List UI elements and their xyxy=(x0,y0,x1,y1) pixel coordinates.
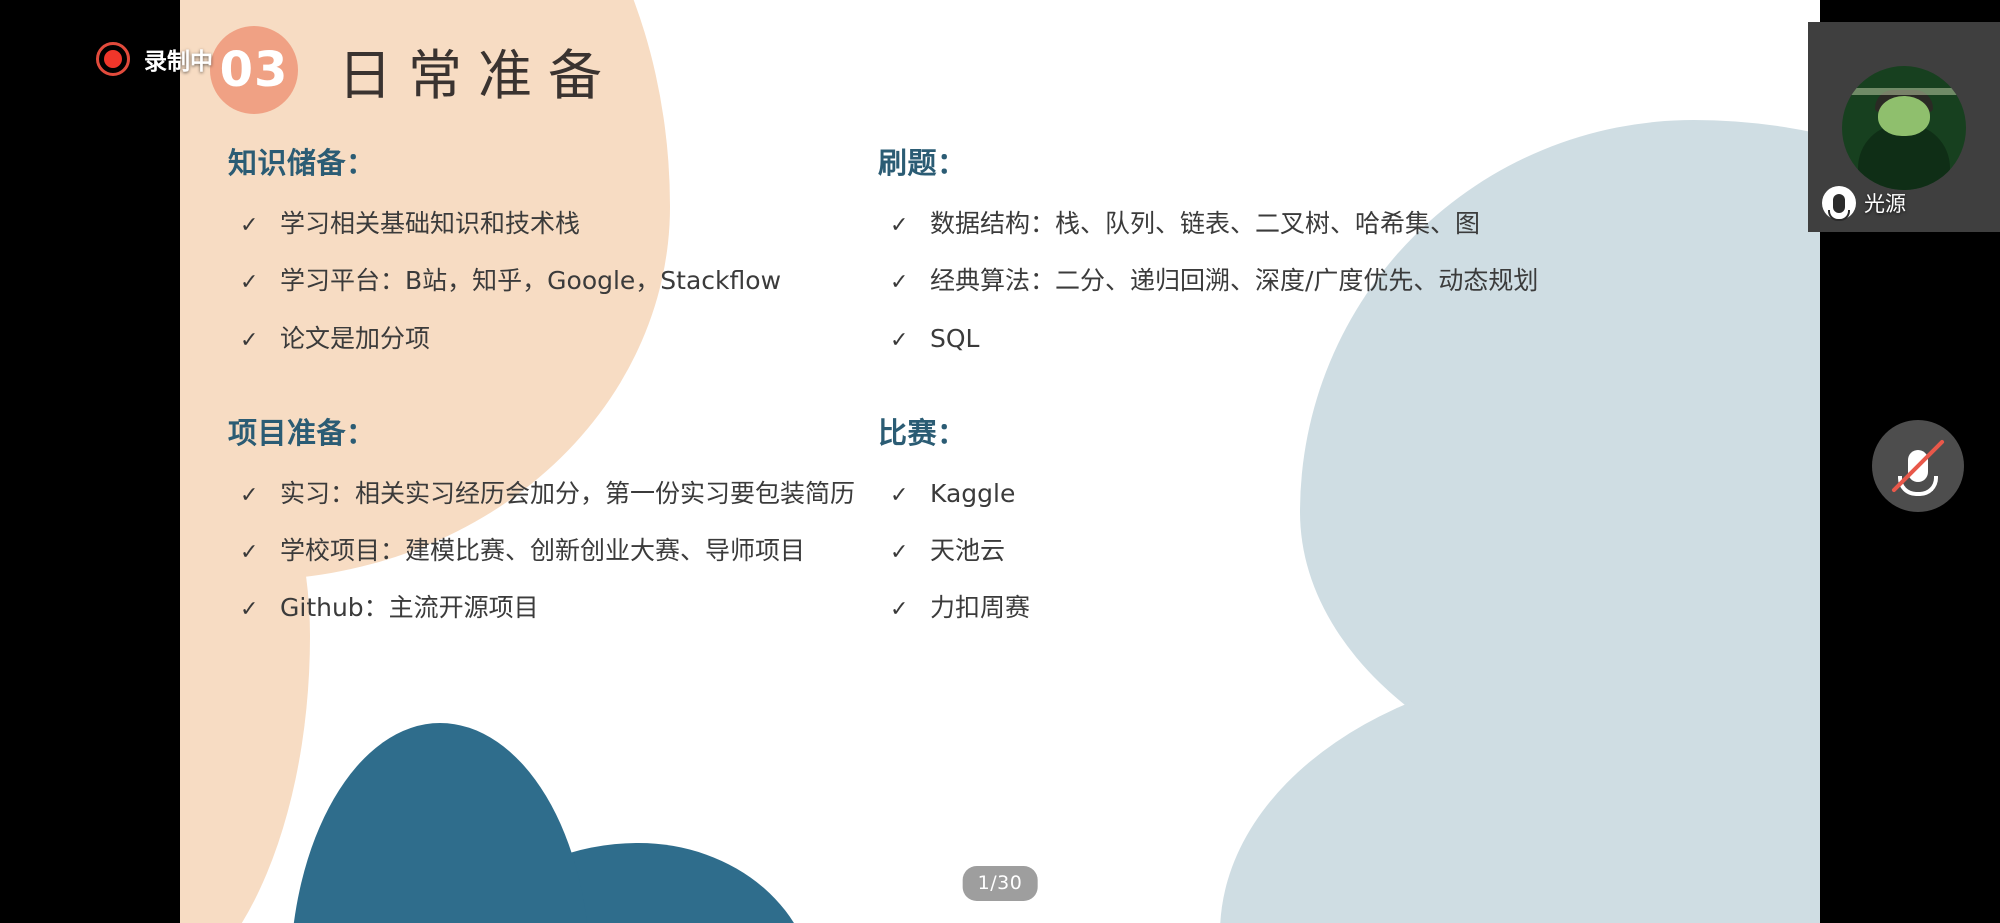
list-item: ✓ Kaggle xyxy=(878,478,1760,509)
list-item: ✓ 数据结构：栈、队列、链表、二叉树、哈希集、图 xyxy=(878,208,1760,239)
list-item-label: 实习：相关实习经历会加分，第一份实习要包装简历 xyxy=(280,478,855,509)
list-item: ✓ 力扣周赛 xyxy=(878,592,1760,623)
list-item: ✓ 论文是加分项 xyxy=(228,323,820,354)
list-item: ✓ 实习：相关实习经历会加分，第一份实习要包装简历 xyxy=(228,478,820,509)
participant-name: 光源 xyxy=(1864,188,1906,218)
list-item: ✓ 天池云 xyxy=(878,535,1760,566)
list-item: ✓ Github：主流开源项目 xyxy=(228,592,820,623)
decorative-blob-teal-bottom xyxy=(290,723,590,923)
check-icon: ✓ xyxy=(890,541,910,563)
record-dot-icon xyxy=(96,42,130,76)
mute-toggle-button[interactable] xyxy=(1872,420,1964,512)
presentation-slide: 03 日常准备 知识储备： ✓ 学习相关基础知识和技术栈 ✓ 学习平台：B站，知… xyxy=(180,0,1820,923)
decorative-blob-blue-bottom xyxy=(1220,663,1820,923)
list-item-label: Kaggle xyxy=(930,478,1015,509)
check-icon: ✓ xyxy=(890,214,910,236)
check-icon: ✓ xyxy=(240,329,260,351)
list-item: ✓ 学校项目：建模比赛、创新创业大赛、导师项目 xyxy=(228,535,820,566)
list-item-label: 学习相关基础知识和技术栈 xyxy=(280,208,580,239)
check-icon: ✓ xyxy=(890,598,910,620)
page-indicator: 1/30 xyxy=(963,866,1038,901)
column-right: 刷题： ✓ 数据结构：栈、队列、链表、二叉树、哈希集、图 ✓ 经典算法：二分、递… xyxy=(820,140,1760,650)
list-item-label: Github：主流开源项目 xyxy=(280,592,539,623)
section-heading: 刷题： xyxy=(878,140,1760,182)
list-item: ✓ 经典算法：二分、递归回溯、深度/广度优先、动态规划 xyxy=(878,265,1760,296)
participant-video-tile[interactable]: 光源 xyxy=(1808,22,2000,232)
section-knowledge: 知识储备： ✓ 学习相关基础知识和技术栈 ✓ 学习平台：B站，知乎，Google… xyxy=(228,140,820,354)
list-item-label: 学校项目：建模比赛、创新创业大赛、导师项目 xyxy=(280,535,805,566)
section-problem-practice: 刷题： ✓ 数据结构：栈、队列、链表、二叉树、哈希集、图 ✓ 经典算法：二分、递… xyxy=(878,140,1760,354)
check-icon: ✓ xyxy=(240,484,260,506)
slide-content: 知识储备： ✓ 学习相关基础知识和技术栈 ✓ 学习平台：B站，知乎，Google… xyxy=(180,140,1820,650)
list-item-label: 数据结构：栈、队列、链表、二叉树、哈希集、图 xyxy=(930,208,1480,239)
check-icon: ✓ xyxy=(890,329,910,351)
list-item: ✓ 学习相关基础知识和技术栈 xyxy=(228,208,820,239)
check-icon: ✓ xyxy=(240,271,260,293)
list-item-label: 天池云 xyxy=(930,535,1005,566)
section-project: 项目准备： ✓ 实习：相关实习经历会加分，第一份实习要包装简历 ✓ 学校项目：建… xyxy=(228,410,820,624)
list-item: ✓ SQL xyxy=(878,323,1760,354)
check-icon: ✓ xyxy=(240,598,260,620)
check-icon: ✓ xyxy=(890,484,910,506)
section-heading: 比赛： xyxy=(878,410,1760,452)
avatar xyxy=(1842,66,1966,190)
section-number-badge: 03 xyxy=(210,26,298,114)
section-heading: 项目准备： xyxy=(228,410,820,452)
list-item: ✓ 学习平台：B站，知乎，Google，Stackflow xyxy=(228,265,820,296)
check-icon: ✓ xyxy=(240,214,260,236)
page-title: 日常准备 xyxy=(338,31,618,110)
decorative-blob-teal-bottom2 xyxy=(395,843,815,923)
section-heading: 知识储备： xyxy=(228,140,820,182)
section-competition: 比赛： ✓ Kaggle ✓ 天池云 ✓ 力扣周赛 xyxy=(878,410,1760,624)
list-item-label: 经典算法：二分、递归回溯、深度/广度优先、动态规划 xyxy=(930,265,1538,296)
list-item-label: 力扣周赛 xyxy=(930,592,1030,623)
list-item-label: 论文是加分项 xyxy=(280,323,430,354)
check-icon: ✓ xyxy=(240,541,260,563)
recording-label: 录制中 xyxy=(144,42,213,76)
list-item-label: SQL xyxy=(930,323,979,354)
list-item-label: 学习平台：B站，知乎，Google，Stackflow xyxy=(280,265,781,296)
check-icon: ✓ xyxy=(890,271,910,293)
participant-footer: 光源 xyxy=(1808,178,2000,232)
microphone-icon[interactable] xyxy=(1822,186,1856,220)
column-left: 知识储备： ✓ 学习相关基础知识和技术栈 ✓ 学习平台：B站，知乎，Google… xyxy=(180,140,820,650)
slide-title-row: 03 日常准备 xyxy=(210,26,618,114)
screen-share-view: 03 日常准备 知识储备： ✓ 学习相关基础知识和技术栈 ✓ 学习平台：B站，知… xyxy=(0,0,2000,923)
recording-indicator: 录制中 xyxy=(96,42,213,76)
